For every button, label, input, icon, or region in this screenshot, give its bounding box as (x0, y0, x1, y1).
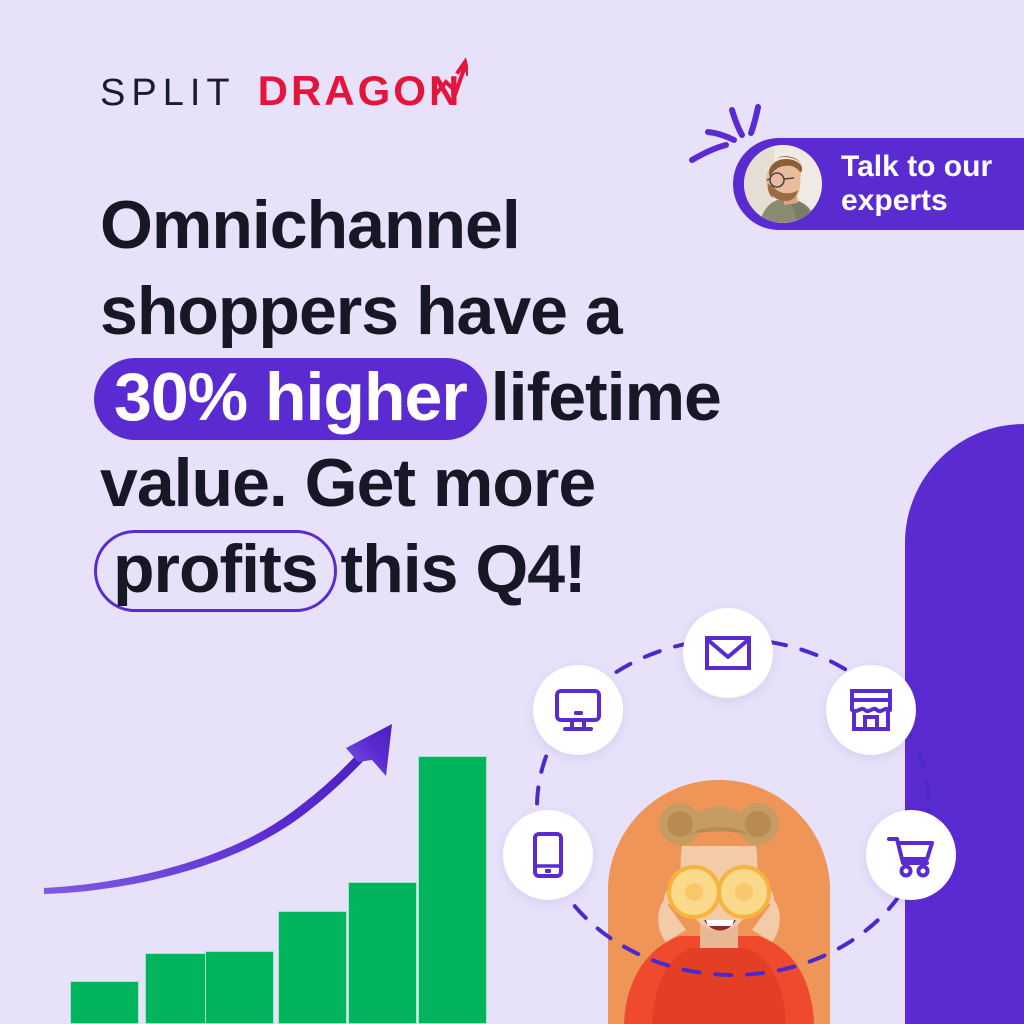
channel-badge-email[interactable] (683, 608, 773, 698)
logo-dragon-text: DRAGON (258, 70, 463, 112)
shopping-cart-icon (885, 829, 937, 881)
channel-badge-store[interactable] (826, 665, 916, 755)
experts-line-1: Talk to our (841, 150, 992, 184)
headline-line-2: shoppers have a (100, 268, 860, 354)
logo-split-text: SPLIT (100, 74, 236, 112)
bar-4 (278, 911, 347, 1024)
brand-logo[interactable]: SPLIT DRAGON (100, 70, 462, 112)
desktop-monitor-icon (552, 684, 604, 736)
storefront-icon (845, 684, 897, 736)
poster-canvas: SPLIT DRAGON (0, 0, 1024, 1024)
omnichannel-ring (490, 590, 980, 1024)
email-envelope-icon (702, 627, 754, 679)
bar-5 (348, 882, 417, 1024)
channel-badge-mobile[interactable] (503, 810, 593, 900)
bar-1 (70, 981, 139, 1024)
headline-line-3-rest: lifetime (491, 359, 721, 435)
bar-3 (205, 951, 274, 1024)
headline-block: Omnichannel shoppers have a 30% higherli… (100, 182, 860, 612)
experts-line-2: experts (841, 184, 992, 218)
bar-2 (145, 953, 214, 1024)
highlight-pill-30-percent: 30% higher (94, 358, 487, 440)
dragon-arrow-mark-icon (434, 54, 468, 100)
headline-line-1: Omnichannel (100, 182, 860, 268)
logo-dragon-group: DRAGON (258, 70, 463, 112)
bar-6 (418, 756, 487, 1024)
channel-badge-cart[interactable] (866, 810, 956, 900)
channel-badge-desktop[interactable] (533, 665, 623, 755)
mobile-phone-icon (522, 829, 574, 881)
circled-word-profits: profits (94, 530, 337, 612)
headline-line-4: value. Get more (100, 440, 860, 526)
growth-bar-chart (0, 720, 520, 1024)
talk-to-experts-label: Talk to our experts (841, 150, 992, 218)
headline-line-3: 30% higherlifetime (100, 354, 860, 440)
